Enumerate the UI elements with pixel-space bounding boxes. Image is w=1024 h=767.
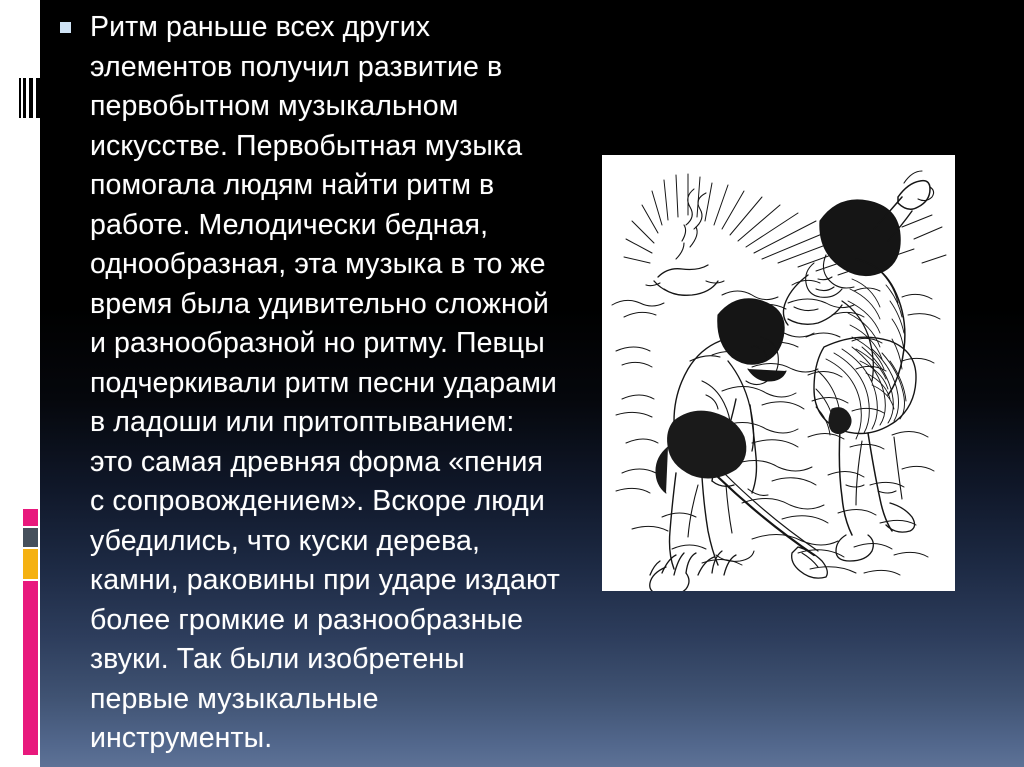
stripe-bar-4 [36,78,41,118]
stripe-bar-1 [19,78,21,118]
left-decorative-panel [0,0,40,767]
stripe-bar-3 [29,78,33,118]
bullet-list-item: Ритм раньше всех других элементов получи… [60,8,560,759]
accent-block-pink-small [23,509,38,526]
illustration-image [602,155,955,591]
body-paragraph: Ритм раньше всех других элементов получи… [90,8,560,759]
slide-body-content: Ритм раньше всех других элементов получи… [60,8,560,759]
stripe-group [19,78,41,118]
accent-block-slate [23,528,38,547]
presentation-slide: Ритм раньше всех других элементов получи… [0,0,1024,767]
stripe-bar-2 [23,78,26,118]
accent-block-amber [23,549,38,579]
primitive-people-drawing [602,155,955,591]
bullet-square-icon [60,22,71,33]
accent-block-pink-long [23,581,38,755]
